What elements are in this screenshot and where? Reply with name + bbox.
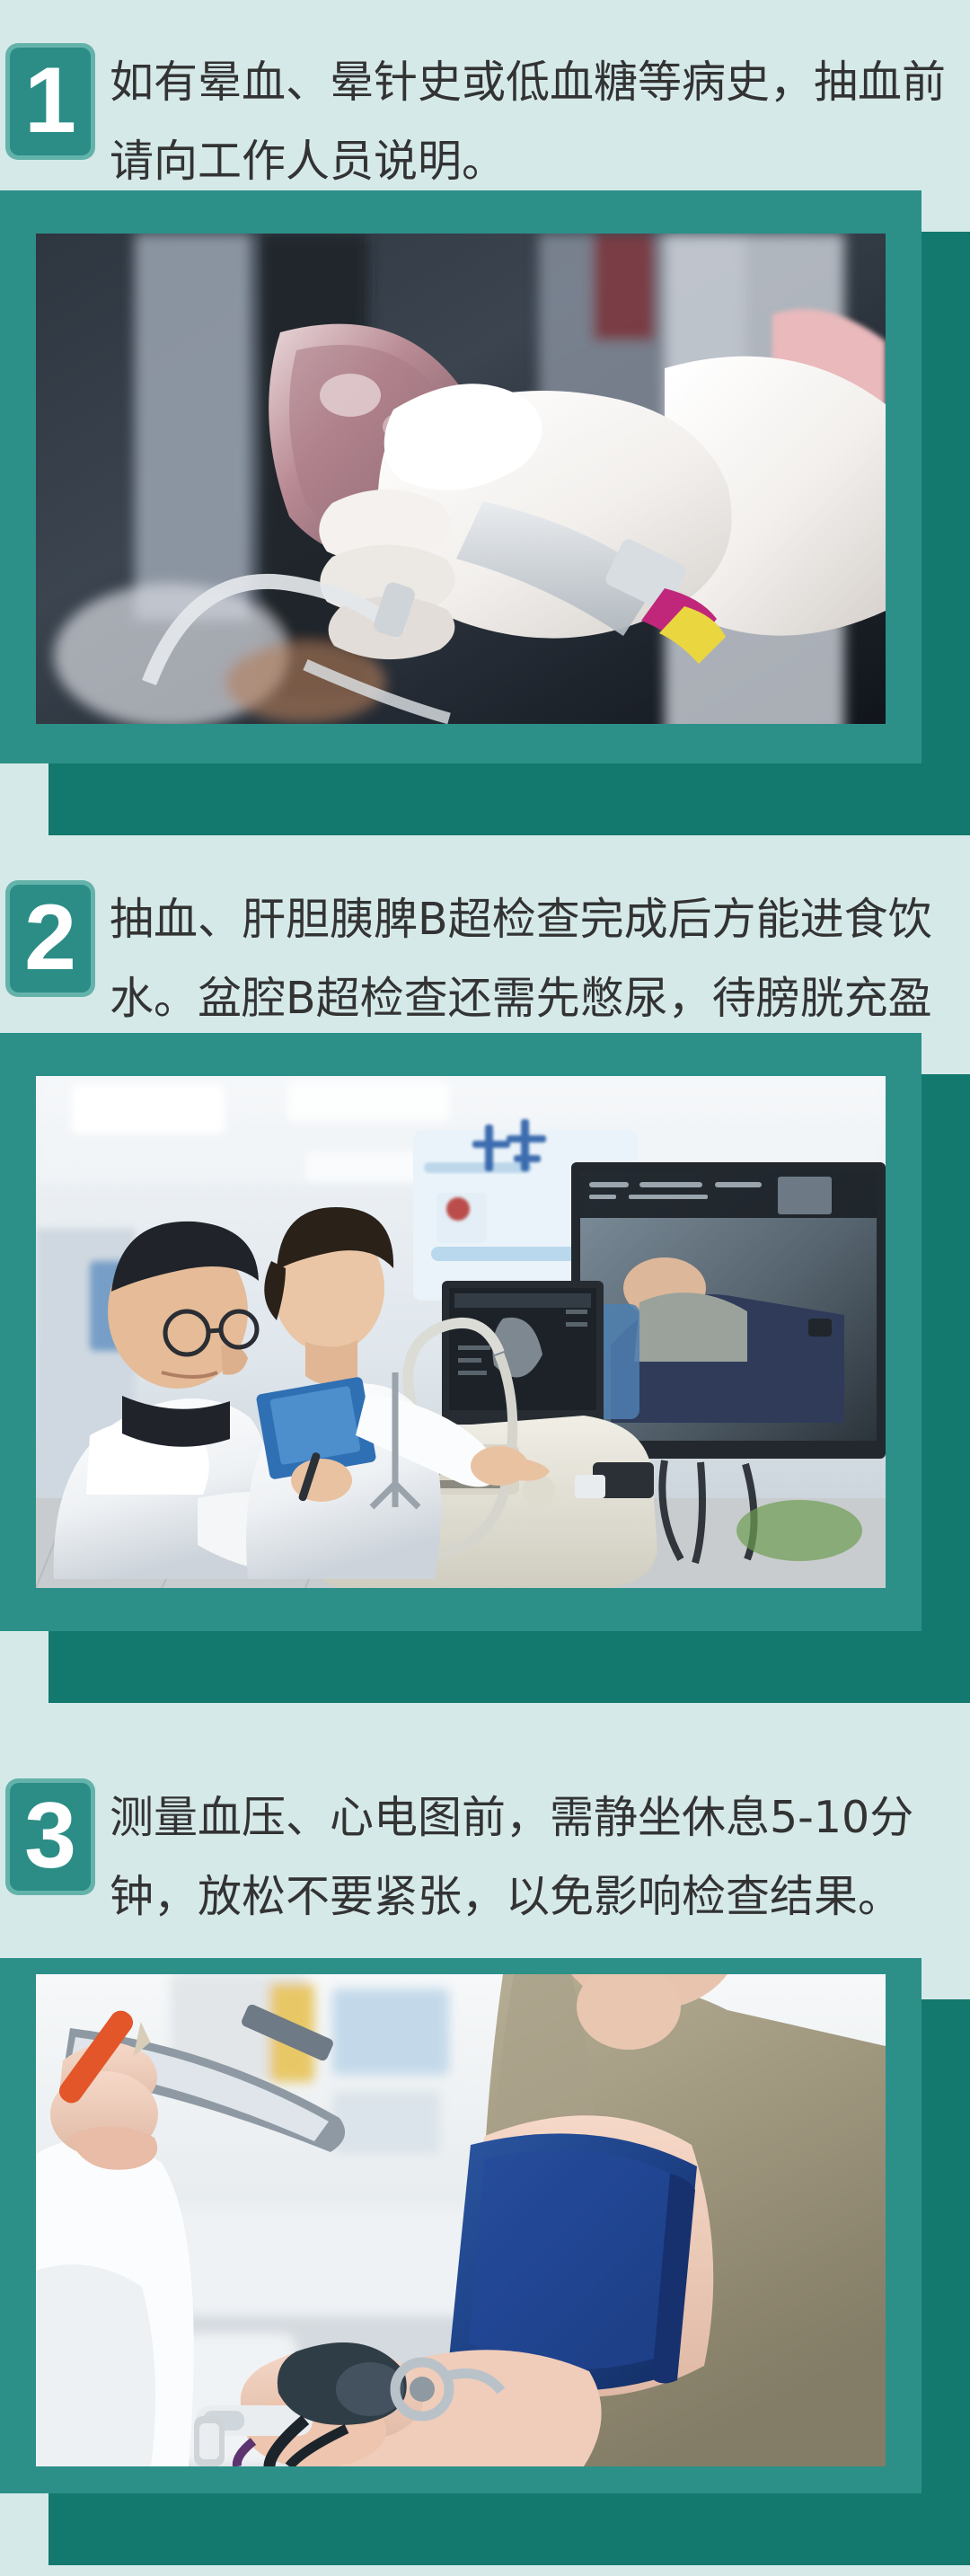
health-checkup-notice-infographic: 1 如有晕血、晕针史或低血糖等病史，抽血前请向工作人员说明。 bbox=[0, 0, 970, 2576]
photo-3-blood-pressure bbox=[36, 1974, 886, 2466]
photo-1-blood-collection bbox=[36, 234, 886, 724]
photo-block-3 bbox=[0, 1958, 970, 2576]
photo-2-ultrasound-exam bbox=[36, 1076, 886, 1588]
instruction-row-3: 3 测量血压、心电图前，需静坐休息5-10分钟，放松不要紧张，以免影响检查结果。 bbox=[0, 1778, 970, 1936]
step-number-badge-1: 1 bbox=[5, 43, 95, 160]
instruction-text-1: 如有晕血、晕针史或低血糖等病史，抽血前请向工作人员说明。 bbox=[110, 43, 970, 201]
step-number-badge-3: 3 bbox=[5, 1778, 95, 1895]
step-number-badge-2: 2 bbox=[5, 880, 95, 997]
instruction-text-3: 测量血压、心电图前，需静坐休息5-10分钟，放松不要紧张，以免影响检查结果。 bbox=[110, 1778, 970, 1936]
step-number-2: 2 bbox=[10, 885, 91, 992]
photo-block-2 bbox=[0, 1033, 970, 1716]
step-number-3: 3 bbox=[10, 1783, 91, 1891]
instruction-row-1: 1 如有晕血、晕针史或低血糖等病史，抽血前请向工作人员说明。 bbox=[0, 43, 970, 201]
photo-block-1 bbox=[0, 190, 970, 819]
step-number-1: 1 bbox=[10, 48, 91, 155]
